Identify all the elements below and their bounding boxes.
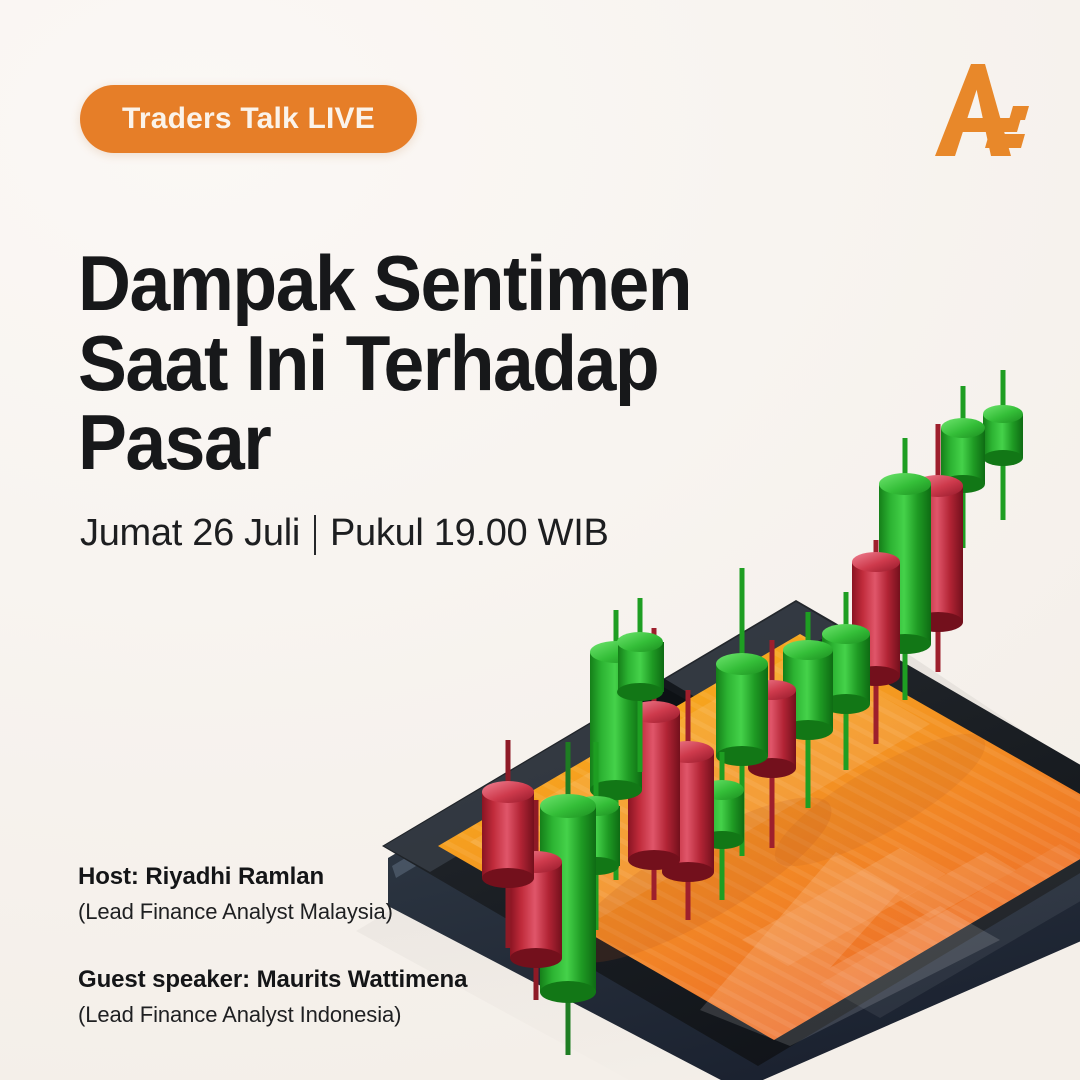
credit-host: Host: Riyadhi Ramlan (Lead Finance Analy… <box>78 862 598 927</box>
credit-guest: Guest speaker: Maurits Wattimena (Lead F… <box>78 965 598 1030</box>
promo-poster: Traders Talk LIVE Dampak Sentimen Saat I… <box>0 0 1080 1080</box>
credit-host-role: (Lead Finance Analyst Malaysia) <box>78 898 598 927</box>
credit-guest-name: Guest speaker: Maurits Wattimena <box>78 965 598 995</box>
credit-host-name: Host: Riyadhi Ramlan <box>78 862 598 892</box>
credit-guest-role: (Lead Finance Analyst Indonesia) <box>78 1001 598 1030</box>
speaker-credits: Host: Riyadhi Ramlan (Lead Finance Analy… <box>78 862 598 1029</box>
